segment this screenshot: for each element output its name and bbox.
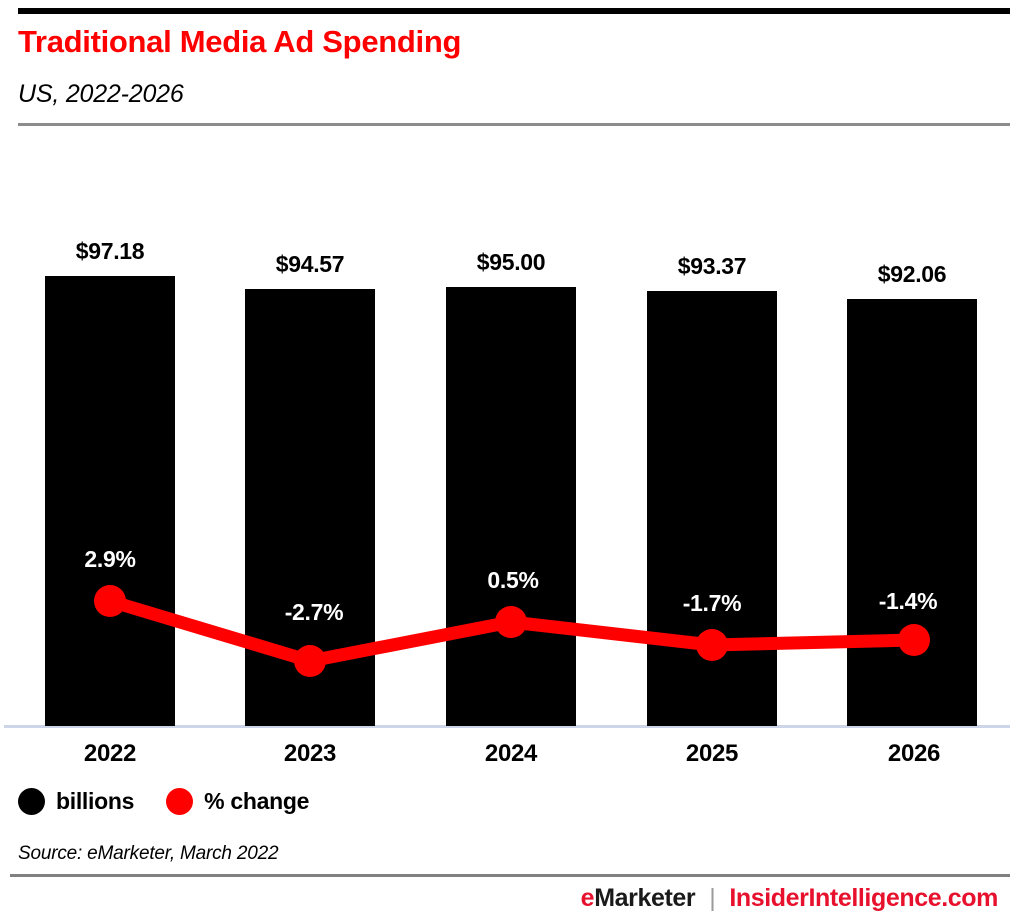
legend-item-billions: billions — [18, 788, 134, 815]
chart-page: Traditional Media Ad Spending US, 2022-2… — [0, 0, 1020, 920]
bar-value-label-2023: $94.57 — [205, 251, 415, 278]
red-circle-icon — [166, 788, 193, 815]
x-axis-label-2022: 2022 — [40, 740, 180, 768]
bar-2023 — [245, 289, 375, 726]
bar-value-label-2022: $97.18 — [5, 238, 215, 265]
pct-change-label-2023: -2.7% — [234, 599, 394, 626]
legend-label-pct-change: % change — [204, 788, 309, 815]
bar-2026 — [847, 299, 977, 726]
chart-legend: billions % change — [18, 788, 309, 815]
brand-separator: | — [709, 884, 715, 913]
bar-2024 — [446, 287, 576, 726]
source-note: Source: eMarketer, March 2022 — [18, 843, 278, 865]
x-axis-label-2025: 2025 — [642, 740, 782, 768]
emarketer-logo: eMarketer — [581, 884, 696, 913]
bar-value-label-2025: $93.37 — [607, 253, 817, 280]
bar-2022 — [45, 276, 175, 726]
plot-area: $97.18$94.57$95.00$93.37$92.06 2.9%-2.7%… — [0, 0, 1020, 920]
footer-branding: eMarketer | InsiderIntelligence.com — [581, 884, 998, 913]
pct-change-label-2024: 0.5% — [433, 567, 593, 594]
pct-change-label-2026: -1.4% — [828, 588, 988, 615]
x-axis-label-2023: 2023 — [240, 740, 380, 768]
legend-item-pct-change: % change — [166, 788, 309, 815]
pct-change-label-2022: 2.9% — [30, 546, 190, 573]
x-axis-label-2026: 2026 — [844, 740, 984, 768]
x-axis-label-2024: 2024 — [441, 740, 581, 768]
bar-value-label-2024: $95.00 — [406, 249, 616, 276]
pct-change-label-2025: -1.7% — [632, 590, 792, 617]
legend-label-billions: billions — [56, 788, 134, 815]
footer-divider — [10, 874, 1010, 877]
insider-intelligence-link[interactable]: InsiderIntelligence.com — [729, 884, 998, 913]
emarketer-rest: Marketer — [594, 884, 695, 912]
black-circle-icon — [18, 788, 45, 815]
emarketer-accent: e — [581, 884, 595, 912]
bar-2025 — [647, 291, 777, 726]
bar-value-label-2026: $92.06 — [807, 261, 1017, 288]
